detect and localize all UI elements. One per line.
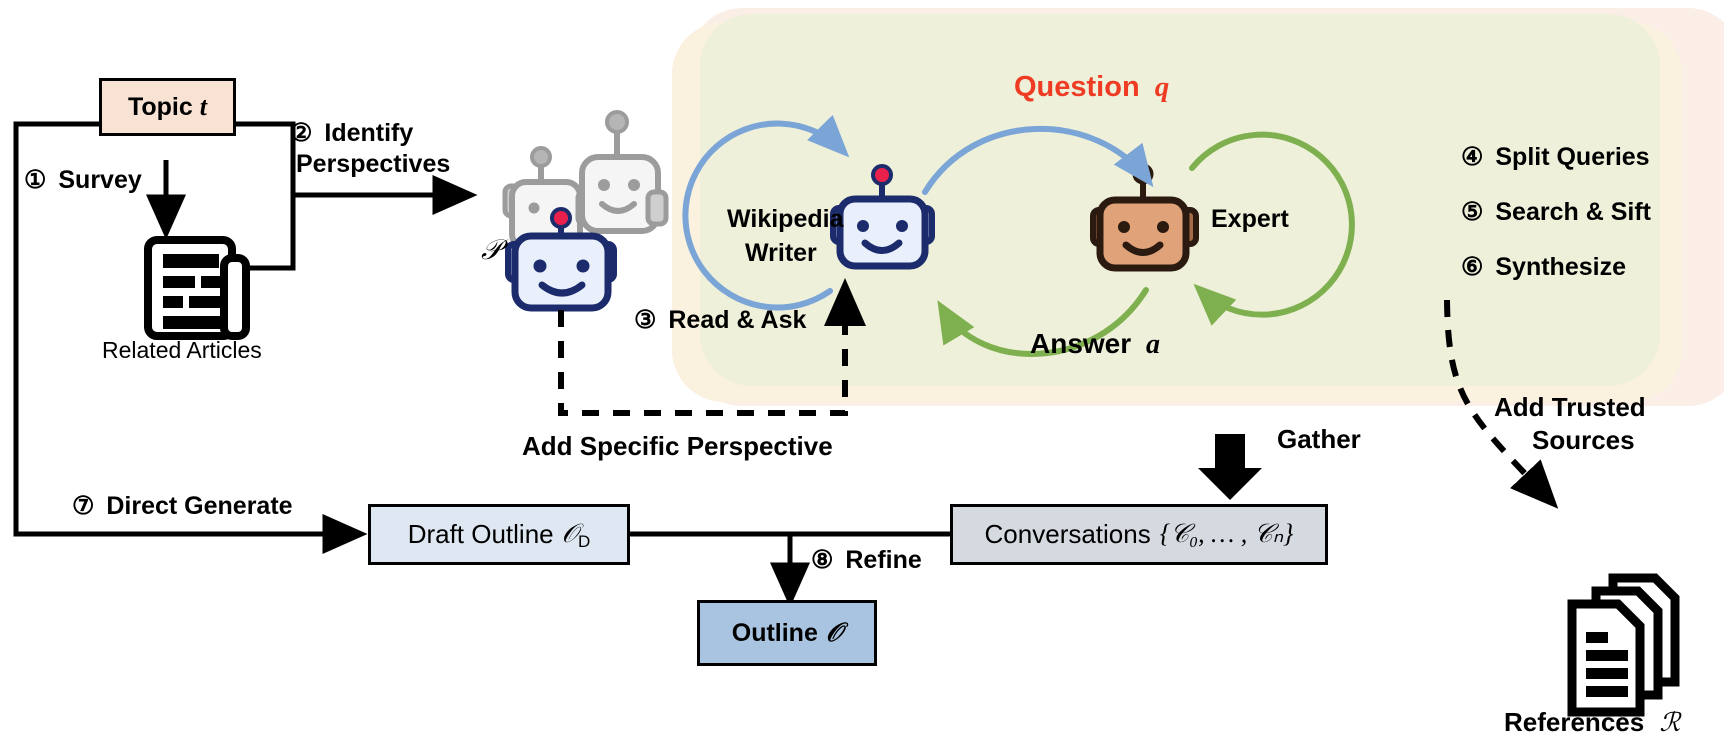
question-symbol: q [1155,71,1170,103]
step-5-search-and-sift: ⑤ Search & Sift [1461,197,1651,227]
step-8-label: Refine [845,546,921,574]
step-7-label: Direct Generate [106,492,292,520]
step-1-label: Survey [58,166,141,194]
outline-box[interactable]: Outline 𝒪 [697,600,877,666]
step-1-number: ① [24,166,46,194]
step-8-refine: ⑧ Refine [811,545,922,575]
add-trusted-sources-line1: Add Trusted [1494,392,1646,423]
references-label: References ℛ [1504,707,1680,738]
related-articles-label: Related Articles [102,337,262,364]
step-6-number: ⑥ [1461,253,1483,281]
draft-outline-box[interactable]: Draft Outline 𝒪 D [368,504,630,565]
conversations-set: {𝒞₀, … , 𝒞ₙ} [1160,519,1294,550]
gather-arrow [1198,434,1262,500]
step-7-number: ⑦ [72,492,94,520]
perspectives-symbol-label: 𝒫 [481,235,501,267]
draft-outline-label: Draft Outline [408,519,554,550]
step-6-synthesize: ⑥ Synthesize [1461,252,1626,282]
step-4-split-queries: ④ Split Queries [1461,142,1650,172]
wikipedia-writer-label-line1: Wikipedia [727,205,843,234]
step-3-label: Read & Ask [668,306,806,334]
draft-outline-subscript: D [578,532,590,552]
step-7-direct-generate: ⑦ Direct Generate [72,491,293,521]
add-specific-perspective-label: Add Specific Perspective [522,431,833,462]
step-6-label: Synthesize [1495,253,1626,281]
answer-label-text: Answer [1030,328,1131,359]
question-label-text: Question [1014,71,1140,103]
question-label: Question q [1014,71,1169,104]
step-1-survey: ① Survey [24,165,142,195]
step-5-label: Search & Sift [1495,198,1651,226]
outline-symbol: 𝒪 [826,618,842,649]
step-2-label-line2-wrap: Perspectives [296,150,450,179]
step-3-read-and-ask: ③ Read & Ask [634,305,806,335]
wikipedia-writer-label-line2: Writer [745,239,817,268]
step-4-number: ④ [1461,143,1483,171]
step-2-label-line1: Identify [324,119,413,147]
add-trusted-sources-line2: Sources [1532,425,1635,456]
newspaper-icon [148,240,246,336]
conversations-box[interactable]: Conversations {𝒞₀, … , 𝒞ₙ} [950,504,1328,565]
documents-stack-icon [1572,578,1675,712]
diagram-canvas: Topic t Draft Outline 𝒪 D Outline 𝒪 Conv… [0,0,1724,754]
step-2-number: ② [290,119,312,147]
expert-label: Expert [1211,205,1289,234]
step-2-label-line2: Perspectives [296,150,450,178]
topic-box[interactable]: Topic t [99,78,236,136]
outline-label: Outline [732,619,818,648]
answer-label: Answer a [1030,328,1160,361]
step-3-number: ③ [634,306,656,334]
step-2-identify-perspectives: ② Identify [290,118,413,148]
references-label-text: References [1504,707,1644,737]
conversations-label: Conversations [985,519,1151,550]
step-8-number: ⑧ [811,546,833,574]
robot-group-icon [505,112,666,308]
draft-outline-symbol: 𝒪 [562,519,578,550]
gather-label: Gather [1277,424,1361,455]
step-4-label: Split Queries [1495,143,1649,171]
step-5-number: ⑤ [1461,198,1483,226]
references-symbol: ℛ [1659,708,1680,737]
topic-box-label: Topic [128,93,193,122]
topic-box-symbol: t [200,92,207,122]
answer-symbol: a [1146,329,1160,360]
